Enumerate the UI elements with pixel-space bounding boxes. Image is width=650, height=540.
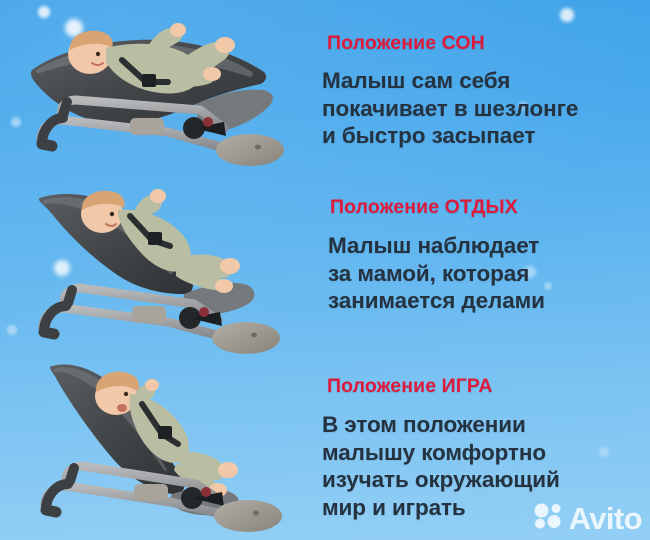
body-line: В этом положении [322,411,650,439]
avito-watermark: Avito [533,503,642,534]
body-line: Малыш сам себя [322,67,650,95]
base-foot [212,322,280,354]
bouncer-image-sleep [18,10,308,195]
heading-sleep: Положение СОН [327,32,650,55]
text-block-sleep: Положение СОН Малыш сам себя покачивает … [316,32,650,150]
base-foot [216,134,284,166]
body-line: изучать окружающий [322,466,650,494]
body-line: занимается делами [328,287,650,315]
heading-play: Положение ИГРА [327,375,650,398]
body-line: Малыш наблюдает [328,232,650,260]
avito-wordmark: Avito [569,503,642,534]
body-line: малышу комфортно [322,439,650,467]
bouncer-frame [41,100,232,150]
avito-dots-logo [533,503,563,534]
heading-rest: Положение ОТДЫХ [330,196,650,219]
body-line: за мамой, которая [328,260,650,288]
infographic-canvas: Положение СОН Малыш сам себя покачивает … [0,0,650,540]
text-block-play: Положение ИГРА В этом положении малышу к… [316,375,650,521]
body-sleep: Малыш сам себя покачивает в шезлонге и б… [322,67,650,150]
base-foot [214,500,282,532]
body-line: и быстро засыпает [322,122,650,150]
body-line: покачивает в шезлонге [322,95,650,123]
bouncer-image-play [18,352,308,537]
bouncer-image-rest [18,180,308,365]
body-rest: Малыш наблюдает за мамой, которая занима… [328,232,650,315]
bokeh-dot [560,8,574,22]
bokeh-dot [7,325,17,335]
text-block-rest: Положение ОТДЫХ Малыш наблюдает за мамой… [316,196,650,315]
